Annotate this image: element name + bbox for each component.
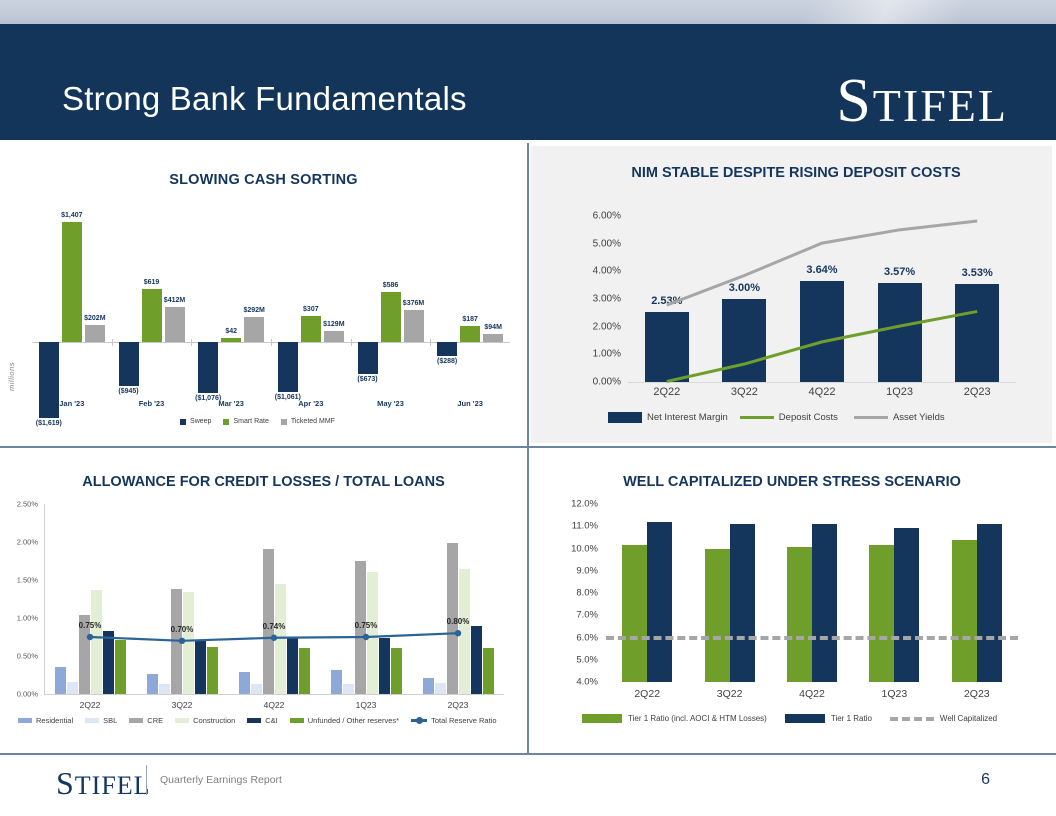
plot-area: ($1,619)$1,407$202M($945)$619$412M($1,07… [32,208,510,426]
strip-sheen [676,0,1056,24]
bar-value-label: ($288) [425,358,469,365]
category-label: Feb '23 [122,399,182,408]
bar-tier1-incl-aoci-htm [787,547,812,682]
chart-title: ALLOWANCE FOR CREDIT LOSSES / TOTAL LOAN… [0,474,527,490]
legend-label: Residential [36,716,73,725]
category-label: 4Q22 [244,700,304,710]
legend-item: CRE [129,716,163,725]
data-point-marker [271,635,277,641]
legend-swatch [175,718,189,723]
legend-label: Well Capitalized [940,714,997,723]
bar-tier1-incl-aoci-htm [952,540,977,682]
legend-label: CRE [147,716,163,725]
legend-label: Sweep [190,418,211,425]
y-axis-tick-label: 1.00% [17,614,38,623]
legend-label: Deposit Costs [779,412,838,423]
bar-smart-rate [301,316,321,342]
y-axis-tick-label: 2.00% [593,321,621,332]
bar-tier1-incl-aoci-htm [705,549,730,683]
y-axis-tick-label: 4.00% [593,266,621,277]
legend-swatch [247,718,261,723]
legend-item: Asset Yields [854,412,945,423]
axis-tick [191,339,192,346]
y-axis-tick-label: 11.0% [572,521,598,532]
bar-ticketed-mmf [483,334,503,342]
plot-area: 0.00%0.50%1.00%1.50%2.00%2.50%0.75%0.70%… [44,504,504,694]
chart-slowing-cash-sorting: SLOWING CASH SORTING millions ($1,619)$1… [0,146,527,444]
bar-tier1-incl-aoci-htm [869,545,894,682]
legend-label: Construction [193,716,235,725]
legend-swatch [223,419,229,425]
footer-separator [146,765,147,795]
line-value-label: 0.70% [154,625,210,634]
chart-legend: Tier 1 Ratio (incl. AOCI & HTM Losses)Ti… [582,714,1009,723]
y-axis-label: millions [7,362,16,391]
bar-sweep [119,342,139,386]
legend-item: C&I [247,716,278,725]
legend-label: SBL [103,716,117,725]
legend-label: Net Interest Margin [647,412,728,423]
bar-smart-rate [221,338,241,342]
legend-swatch [582,714,622,723]
category-label: 2Q22 [627,386,707,398]
bar-value-label: $129M [310,321,358,328]
plot-area: 0.00%1.00%2.00%3.00%4.00%5.00%6.00%2.53%… [628,216,1016,382]
y-axis-tick-label: 1.50% [17,576,38,585]
legend-label: Ticketed MMF [291,418,335,425]
bar-sweep [358,342,378,374]
chart-well-capitalized: WELL CAPITALIZED UNDER STRESS SCENARIO 4… [528,448,1056,753]
legend-label: Tier 1 Ratio [831,714,872,723]
legend-swatch [290,718,304,723]
data-point-marker [363,634,369,640]
bar-tier1-incl-aoci-htm [622,545,647,682]
category-label: 2Q23 [937,386,1017,398]
category-label: May '23 [361,399,421,408]
slide-footer: STIFEL Quarterly Earnings Report 6 [0,755,1056,816]
chart-legend: SweepSmart RateTicketed MMF [0,418,527,425]
legend-item: Residential [18,716,73,725]
data-point-marker [87,634,93,640]
y-axis-tick-label: 1.00% [593,349,621,360]
window-top-strip [0,0,1056,24]
bar-value-label: ($673) [346,376,390,383]
legend-label: Asset Yields [893,412,945,423]
y-axis-tick-label: 4.0% [576,677,598,688]
category-label: 1Q23 [336,700,396,710]
legend-marker-dot [416,717,423,724]
y-axis-tick-label: 0.00% [593,377,621,388]
chart-nim-stable: NIM STABLE DESPITE RISING DEPOSIT COSTS … [528,146,1056,444]
bar-value-label: $376M [390,300,438,307]
y-axis-tick-label: 0.00% [17,690,38,699]
chart-title: SLOWING CASH SORTING [0,172,527,188]
bar-value-label: $307 [289,306,333,313]
y-axis-tick-label: 6.0% [576,632,598,643]
stifel-logo: STIFEL [836,70,1008,132]
legend-item: Sweep [180,418,211,425]
bar-ticketed-mmf [244,317,264,342]
bar-value-label: $412M [151,297,199,304]
total-reserve-ratio-layer [44,504,504,694]
legend-label: Smart Rate [233,418,268,425]
plot-area: 4.0%5.0%6.0%7.0%8.0%9.0%10.0%11.0%12.0% [606,504,1018,682]
well-capitalized-threshold-line [606,636,1018,640]
x-axis-line [44,694,504,695]
axis-tick [112,339,113,346]
legend-item: Tier 1 Ratio [785,714,872,723]
legend-swatch [890,717,934,721]
chart-title: NIM STABLE DESPITE RISING DEPOSIT COSTS [606,164,986,184]
legend-swatch [180,419,186,425]
legend-item: Total Reserve Ratio [411,716,496,725]
y-axis-tick-label: 9.0% [576,565,598,576]
y-axis-tick-label: 3.00% [593,294,621,305]
bar-value-label: $94M [469,324,517,331]
bar-ticketed-mmf [85,325,105,342]
category-label: 4Q22 [782,386,862,398]
y-axis-tick-label: 6.00% [593,211,621,222]
legend-swatch [411,719,427,722]
chart-legend: ResidentialSBLCREConstructionC&IUnfunded… [18,716,509,725]
bar-value-label: $202M [71,315,119,322]
bar-tier1-ratio [894,528,919,682]
data-point-marker [455,630,461,636]
legend-item: SBL [85,716,117,725]
bar-value-label: $187 [448,316,492,323]
legend-swatch [854,416,888,419]
category-label: 1Q23 [860,386,940,398]
bar-sweep [278,342,298,392]
footer-stifel-logo: STIFEL [56,765,151,802]
legend-label: Tier 1 Ratio (incl. AOCI & HTM Losses) [628,714,767,723]
chart-title: WELL CAPITALIZED UNDER STRESS SCENARIO [528,474,1056,490]
category-label: 3Q22 [152,700,212,710]
line-asset-yields [667,221,977,305]
bar-ticketed-mmf [324,331,344,342]
category-label: Mar '23 [201,399,261,408]
bar-value-label: $1,407 [50,212,94,219]
category-label: 2Q23 [428,700,488,710]
legend-swatch [785,714,825,723]
chart-allowance-credit-losses: ALLOWANCE FOR CREDIT LOSSES / TOTAL LOAN… [0,448,527,753]
bar-value-label: $586 [369,282,413,289]
page-number: 6 [981,771,990,789]
line-value-label: 0.74% [246,622,302,631]
legend-label: Total Reserve Ratio [431,716,496,725]
category-label: 3Q22 [704,386,784,398]
legend-swatch [129,718,143,723]
axis-tick [351,339,352,346]
bar-tier1-ratio [647,522,672,682]
y-axis-tick-label: 7.0% [576,610,598,621]
legend-item: Well Capitalized [890,714,997,723]
line-series-layer [628,216,1016,382]
y-axis-tick-label: 0.50% [17,652,38,661]
slide: Strong Bank Fundamentals STIFEL SLOWING … [0,0,1056,816]
legend-label: C&I [265,716,278,725]
footer-subtitle: Quarterly Earnings Report [160,774,282,786]
page-title: Strong Bank Fundamentals [62,80,467,118]
category-label: 4Q22 [777,688,847,700]
legend-swatch [608,412,642,423]
line-deposit-costs [667,311,977,381]
legend-swatch [281,419,287,425]
category-label: 2Q22 [612,688,682,700]
y-axis-tick-label: 12.0% [571,499,598,510]
bar-ticketed-mmf [165,307,185,342]
y-axis-tick-label: 10.0% [571,543,598,554]
chart-legend: Net Interest MarginDeposit CostsAsset Yi… [608,412,961,423]
bar-value-label: $619 [130,279,174,286]
bar-smart-rate [62,222,82,342]
slide-header: Strong Bank Fundamentals STIFEL [0,24,1056,140]
data-point-marker [179,638,185,644]
category-label: 2Q23 [942,688,1012,700]
line-value-label: 0.75% [338,621,394,630]
line-value-label: 0.75% [62,621,118,630]
legend-item: Ticketed MMF [281,418,335,425]
line-value-label: 0.80% [430,617,486,626]
y-axis-tick-label: 5.0% [576,654,598,665]
category-label: Jun '23 [440,399,500,408]
y-axis-tick-label: 8.0% [576,588,598,599]
legend-swatch [18,718,32,723]
bar-ticketed-mmf [404,310,424,342]
y-axis-tick-label: 5.00% [593,238,621,249]
bar-sweep [198,342,218,393]
legend-item: Tier 1 Ratio (incl. AOCI & HTM Losses) [582,714,767,723]
legend-item: Smart Rate [223,418,268,425]
bar-tier1-ratio [812,524,837,682]
category-label: Apr '23 [281,399,341,408]
category-label: 1Q23 [859,688,929,700]
y-axis-tick-label: 2.00% [17,538,38,547]
y-axis-tick-label: 2.50% [17,500,38,509]
bar-tier1-ratio [977,524,1002,682]
legend-item: Construction [175,716,235,725]
legend-item: Net Interest Margin [608,412,728,423]
bar-sweep [437,342,457,356]
category-label: Jan '23 [42,399,102,408]
legend-label: Unfunded / Other reserves* [308,716,399,725]
legend-item: Deposit Costs [740,412,838,423]
category-label: 2Q22 [60,700,120,710]
bar-value-label: $292M [230,307,278,314]
axis-tick [430,339,431,346]
bar-value-label: ($945) [107,388,151,395]
axis-tick [271,339,272,346]
bar-tier1-ratio [730,524,755,682]
legend-swatch [85,718,99,723]
legend-item: Unfunded / Other reserves* [290,716,399,725]
x-axis-line [628,382,1016,383]
category-label: 3Q22 [695,688,765,700]
legend-swatch [740,416,774,419]
